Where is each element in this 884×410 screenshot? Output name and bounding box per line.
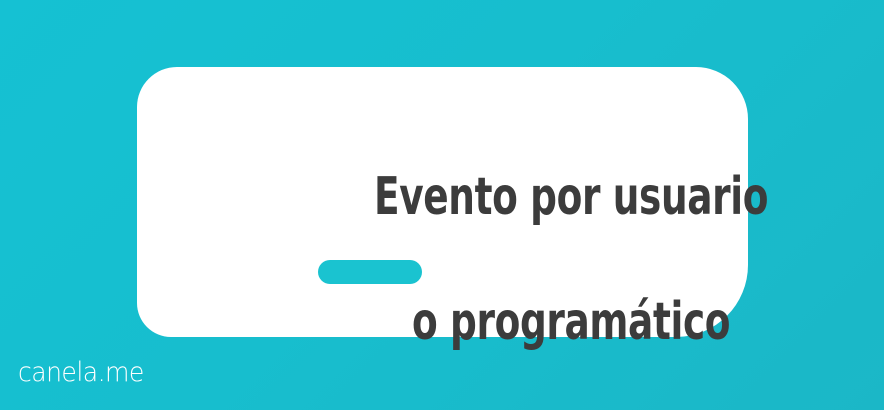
accent-bar (318, 260, 422, 284)
brand-logo: canela.me (18, 359, 144, 386)
slide-canvas: Evento por usuario o programático canela… (0, 0, 884, 410)
content-card: Evento por usuario o programático (137, 67, 748, 337)
headline-line-2: o programático (412, 294, 730, 350)
headline-line-1: Evento por usuario (374, 169, 768, 225)
